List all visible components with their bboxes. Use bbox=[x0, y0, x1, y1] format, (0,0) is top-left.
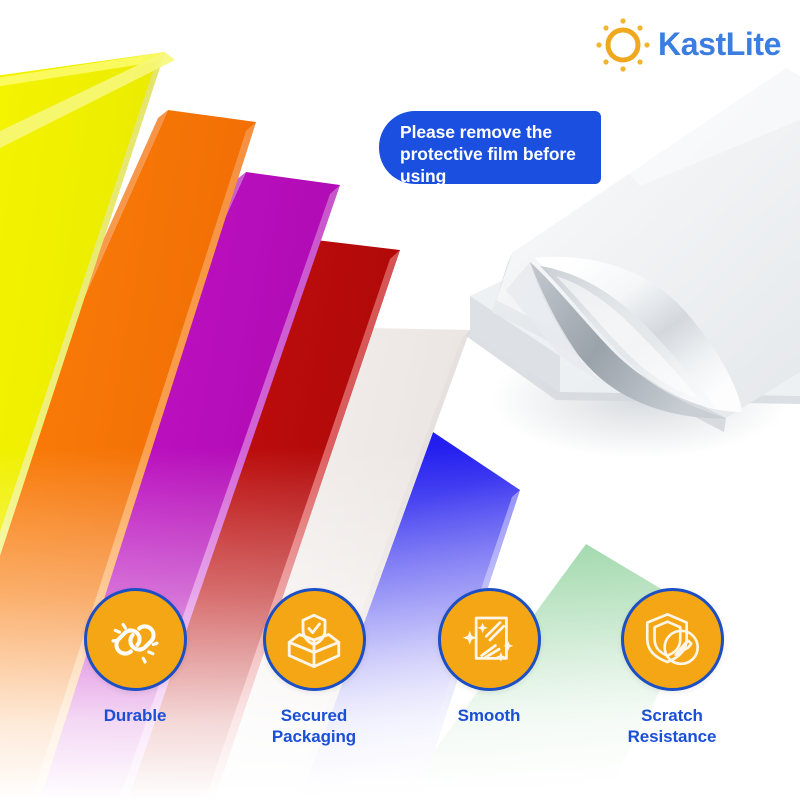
feature-badge-circle bbox=[621, 588, 724, 691]
shield-blade-icon bbox=[639, 607, 705, 673]
feature-smooth[interactable]: Smooth bbox=[414, 588, 564, 726]
feature-label: Scratch Resistance bbox=[628, 705, 717, 747]
product-infographic: KastLite Please remove the protective fi… bbox=[0, 0, 800, 800]
shield-box-icon bbox=[281, 607, 347, 673]
protective-film-callout: Please remove the protective film before… bbox=[379, 111, 601, 184]
feature-badge-circle bbox=[263, 588, 366, 691]
chain-link-icon bbox=[102, 607, 168, 673]
feature-badge-row: Durable bbox=[0, 588, 800, 773]
feature-label: Durable bbox=[104, 705, 167, 726]
brand-logo: KastLite bbox=[592, 14, 782, 76]
feature-label: Smooth bbox=[458, 705, 521, 726]
feature-durable[interactable]: Durable bbox=[60, 588, 210, 726]
sheet-yellow-front-face bbox=[0, 52, 175, 148]
brand-name: KastLite bbox=[658, 28, 781, 63]
feature-secured-packaging[interactable]: Secured Packaging bbox=[239, 588, 389, 747]
sun-icon bbox=[592, 14, 654, 76]
feature-scratch-resistance[interactable]: Scratch Resistance bbox=[597, 588, 747, 747]
callout-text: Please remove the protective film before… bbox=[400, 121, 592, 188]
sparkle-panel-icon bbox=[456, 607, 522, 673]
feature-badge-circle bbox=[438, 588, 541, 691]
feature-badge-circle bbox=[84, 588, 187, 691]
feature-label: Secured Packaging bbox=[272, 705, 356, 747]
